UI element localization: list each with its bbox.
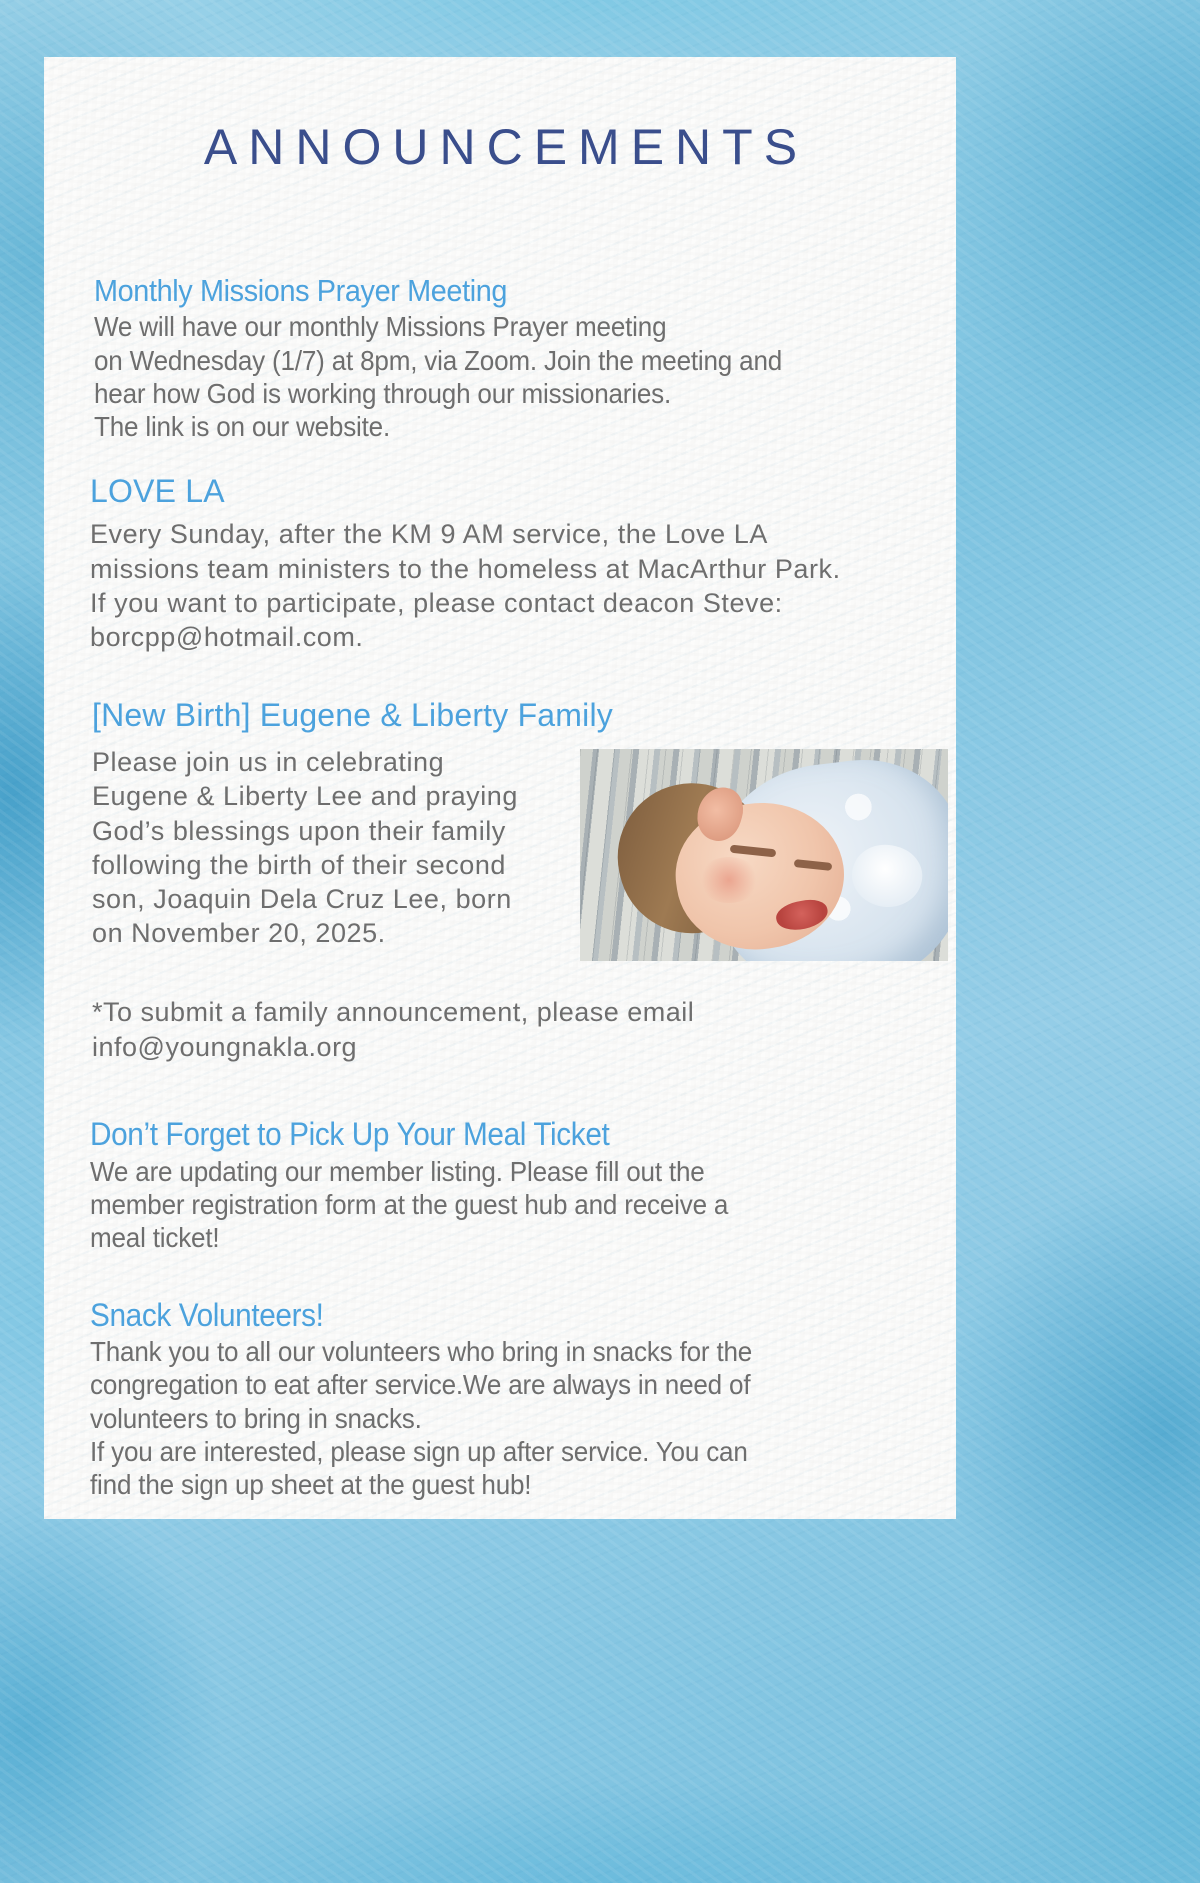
- body-line: Thank you to all our volunteers who brin…: [90, 1335, 888, 1368]
- body-line: congregation to eat after service.We are…: [90, 1368, 888, 1401]
- section-heading: Snack Volunteers!: [90, 1298, 888, 1333]
- section-body: Thank you to all our volunteers who brin…: [90, 1335, 888, 1502]
- newborn-baby-photo: [580, 749, 948, 961]
- body-line: Please join us in celebrating: [92, 745, 574, 779]
- poster-background: ANNOUNCEMENTS Monthly Missions Prayer Me…: [0, 0, 1200, 1883]
- baby-cheek: [698, 857, 760, 903]
- section-heading: [New Birth] Eugene & Liberty Family: [92, 698, 948, 733]
- body-line: member registration form at the guest hu…: [90, 1188, 888, 1221]
- submission-email[interactable]: info@youngnakla.org: [92, 1030, 948, 1065]
- section-body: Every Sunday, after the KM 9 AM service,…: [90, 517, 948, 654]
- section-body: *To submit a family announcement, please…: [92, 995, 948, 1065]
- section-family-announcement-note: *To submit a family announcement, please…: [92, 995, 948, 1065]
- body-line: hear how God is working through our miss…: [94, 377, 888, 410]
- body-line: Every Sunday, after the KM 9 AM service,…: [90, 517, 948, 551]
- section-snack-volunteers: Snack Volunteers! Thank you to all our v…: [90, 1298, 948, 1502]
- body-line: Eugene & Liberty Lee and praying: [92, 779, 574, 813]
- section-meal-ticket: Don’t Forget to Pick Up Your Meal Ticket…: [90, 1117, 948, 1254]
- section-heading: Don’t Forget to Pick Up Your Meal Ticket: [90, 1117, 888, 1152]
- announcements-panel: ANNOUNCEMENTS Monthly Missions Prayer Me…: [44, 57, 956, 1519]
- body-line: If you are interested, please sign up af…: [90, 1435, 888, 1468]
- section-body: Please join us in celebrating Eugene & L…: [92, 745, 574, 951]
- body-line: *To submit a family announcement, please…: [92, 995, 948, 1030]
- body-line: following the birth of their second: [92, 848, 574, 882]
- section-heading: LOVE LA: [90, 474, 948, 509]
- body-line: The link is on our website.: [94, 410, 888, 443]
- body-line: If you want to participate, please conta…: [90, 586, 948, 620]
- page-title: ANNOUNCEMENTS: [44, 118, 956, 176]
- body-line: find the sign up sheet at the guest hub!: [90, 1468, 888, 1501]
- section-new-birth: [New Birth] Eugene & Liberty Family Plea…: [92, 698, 948, 961]
- body-line: We are updating our member listing. Plea…: [90, 1155, 888, 1188]
- body-line: son, Joaquin Dela Cruz Lee, born: [92, 882, 574, 916]
- section-love-la: LOVE LA Every Sunday, after the KM 9 AM …: [90, 474, 948, 655]
- section-heading: Monthly Missions Prayer Meeting: [94, 274, 888, 307]
- body-line: on Wednesday (1/7) at 8pm, via Zoom. Joi…: [94, 344, 888, 377]
- body-line: God’s blessings upon their family: [92, 814, 574, 848]
- section-body: We will have our monthly Missions Prayer…: [94, 310, 888, 443]
- section-monthly-missions-prayer-meeting: Monthly Missions Prayer Meeting We will …: [94, 274, 948, 444]
- announcement-sections: Monthly Missions Prayer Meeting We will …: [44, 274, 956, 1502]
- new-birth-row: Please join us in celebrating Eugene & L…: [92, 745, 948, 961]
- body-line: We will have our monthly Missions Prayer…: [94, 310, 888, 343]
- body-line: volunteers to bring in snacks.: [90, 1402, 888, 1435]
- body-line: meal ticket!: [90, 1221, 888, 1254]
- body-line: on November 20, 2025.: [92, 916, 574, 950]
- contact-email[interactable]: borcpp@hotmail.com.: [90, 620, 948, 654]
- body-line: missions team ministers to the homeless …: [90, 552, 948, 586]
- section-body: We are updating our member listing. Plea…: [90, 1155, 888, 1255]
